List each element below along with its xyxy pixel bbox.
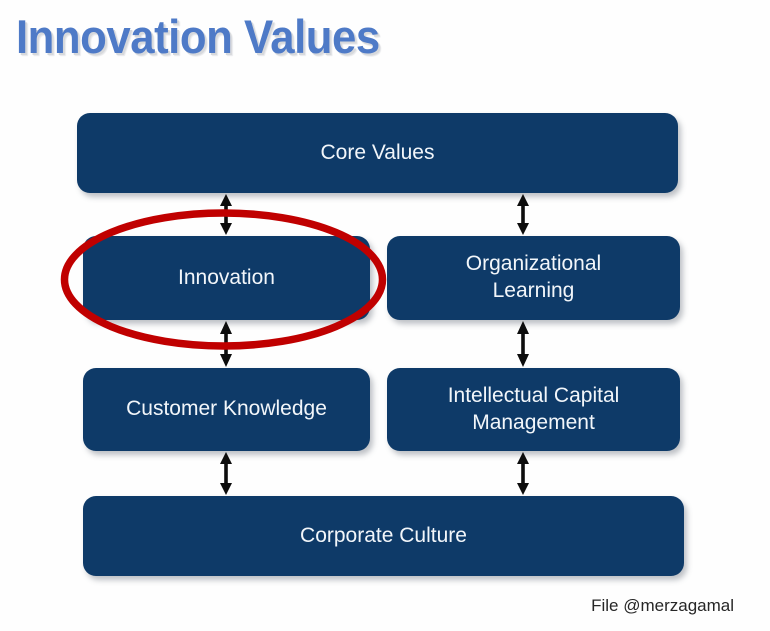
node-intellectual-capital-management-label: Intellectual Capital Management (448, 383, 620, 437)
footer-credit: File @merzagamal (591, 596, 734, 616)
double-arrow-icon-core-values-innovation (215, 193, 237, 236)
node-core-values[interactable]: Core Values (77, 113, 678, 193)
slide-canvas: Innovation Values Core Values Innovation… (0, 0, 770, 631)
node-intellectual-capital-management[interactable]: Intellectual Capital Management (387, 368, 680, 451)
double-arrow-icon-organizational-learning-intellectual-capital-management (512, 320, 534, 368)
double-arrow-icon-customer-knowledge-corporate-culture (215, 451, 237, 496)
node-customer-knowledge[interactable]: Customer Knowledge (83, 368, 370, 451)
node-innovation[interactable]: Innovation (83, 236, 370, 320)
node-organizational-learning[interactable]: Organizational Learning (387, 236, 680, 320)
double-arrow-icon-innovation-customer-knowledge (215, 320, 237, 368)
node-organizational-learning-label: Organizational Learning (466, 251, 601, 305)
page-title: Innovation Values (16, 12, 380, 61)
node-corporate-culture-label: Corporate Culture (300, 523, 467, 550)
node-customer-knowledge-label: Customer Knowledge (126, 396, 327, 423)
double-arrow-icon-core-values-organizational-learning (512, 193, 534, 236)
node-innovation-label: Innovation (178, 265, 275, 292)
double-arrow-icon-intellectual-capital-management-corporate-culture (512, 451, 534, 496)
node-core-values-label: Core Values (320, 140, 434, 167)
node-corporate-culture[interactable]: Corporate Culture (83, 496, 684, 576)
